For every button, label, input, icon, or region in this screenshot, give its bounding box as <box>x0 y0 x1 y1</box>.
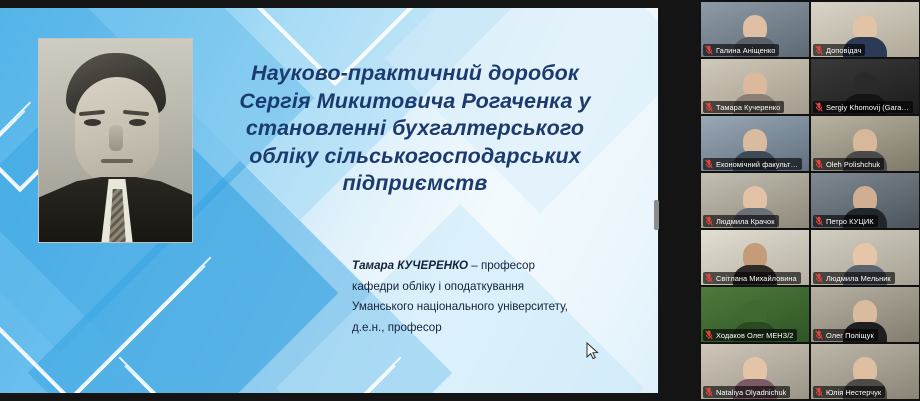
participant-tile[interactable]: Sergiy Khomovij (Gara… <box>811 59 919 114</box>
mic-muted-icon <box>815 45 823 55</box>
attribution-line: кафедри обліку і оподаткування <box>352 277 612 298</box>
shared-screen-stage: Науково-практичний доробок Сергія Микито… <box>0 0 700 401</box>
participant-name: Ходаков Олег МЕНЗ/2 <box>716 331 793 340</box>
participant-name: Олег Поліщук <box>826 331 874 340</box>
mic-muted-icon <box>705 159 713 169</box>
participant-tile[interactable]: Людмила Мельник <box>811 230 919 285</box>
participant-tile[interactable]: Oleh Polishchuk <box>811 116 919 171</box>
attribution-line: д.е.н., професор <box>352 318 612 339</box>
participant-name: Галина Аніщенко <box>716 46 775 55</box>
mic-muted-icon <box>815 159 823 169</box>
participant-name-badge: Oleh Polishchuk <box>813 158 884 170</box>
mic-muted-icon <box>705 273 713 283</box>
participant-name-badge: Юлія Нестерчук <box>813 386 885 398</box>
participant-name: Економічний факульт… <box>716 160 798 169</box>
slide-title-line: підприємств <box>200 170 630 198</box>
participant-tile[interactable]: Доповідач <box>811 2 919 57</box>
participant-name: Юлія Нестерчук <box>826 388 881 397</box>
participant-tile[interactable]: Економічний факульт… <box>701 116 809 171</box>
slide-title: Науково-практичний доробок Сергія Микито… <box>200 60 630 198</box>
participant-name-badge: Олег Поліщук <box>813 329 878 341</box>
participant-tile[interactable]: Тамара Кучеренко <box>701 59 809 114</box>
scrollbar-thumb[interactable] <box>654 200 659 230</box>
presentation-slide: Науково-практичний доробок Сергія Микито… <box>0 8 658 393</box>
participant-name-badge: Петро КУЦИК <box>813 215 878 227</box>
slide-title-line: обліку сільськогосподарських <box>200 143 630 171</box>
mic-muted-icon <box>815 216 823 226</box>
participant-tile[interactable]: Світлана Михайловина <box>701 230 809 285</box>
participant-name: Sergiy Khomovij (Gara… <box>826 103 909 112</box>
participant-name-badge: Sergiy Khomovij (Gara… <box>813 101 913 113</box>
participant-name-badge: Ходаков Олег МЕНЗ/2 <box>703 329 797 341</box>
slide-title-line: Науково-практичний доробок <box>200 60 630 88</box>
participant-tile[interactable]: Юлія Нестерчук <box>811 344 919 399</box>
participant-name-badge: Людмила Крачок <box>703 215 779 227</box>
mic-muted-icon <box>705 216 713 226</box>
participant-tile[interactable]: Людмила Крачок <box>701 173 809 228</box>
attribution-line-name: Тамара КУЧЕРЕНКО – професор <box>352 256 612 277</box>
slide-attribution: Тамара КУЧЕРЕНКО – професор кафедри облі… <box>352 256 612 339</box>
portrait-photo <box>38 38 193 243</box>
participant-name: Oleh Polishchuk <box>826 160 880 169</box>
participant-tile[interactable]: Петро КУЦИК <box>811 173 919 228</box>
mic-muted-icon <box>705 45 713 55</box>
mic-muted-icon <box>815 387 823 397</box>
mic-muted-icon <box>815 102 823 112</box>
participant-name: Доповідач <box>826 46 861 55</box>
participant-tile[interactable]: Ходаков Олег МЕНЗ/2 <box>701 287 809 342</box>
participant-tile[interactable]: Олег Поліщук <box>811 287 919 342</box>
participant-name: Людмила Мельник <box>826 274 891 283</box>
mic-muted-icon <box>705 387 713 397</box>
participant-name: Світлана Михайловина <box>716 274 797 283</box>
participant-name-badge: Доповідач <box>813 44 865 56</box>
participant-name-badge: Людмила Мельник <box>813 272 895 284</box>
presenter-role: – професор <box>468 259 535 272</box>
participant-tile[interactable]: Nataliya Olyadnichuk <box>701 344 809 399</box>
mic-muted-icon <box>705 102 713 112</box>
participant-grid: Галина АніщенкоДоповідачТамара Кучеренко… <box>700 0 920 401</box>
participant-name-badge: Економічний факульт… <box>703 158 802 170</box>
shared-screen-scrollbar[interactable] <box>654 8 659 393</box>
zoom-meeting-window: Науково-практичний доробок Сергія Микито… <box>0 0 920 401</box>
participant-name-badge: Світлана Михайловина <box>703 272 801 284</box>
slide-title-line: становленні бухгалтерського <box>200 115 630 143</box>
presenter-name: Тамара КУЧЕРЕНКО <box>352 259 468 272</box>
participant-name: Людмила Крачок <box>716 217 775 226</box>
mic-muted-icon <box>705 330 713 340</box>
participant-name-badge: Галина Аніщенко <box>703 44 779 56</box>
participant-name: Тамара Кучеренко <box>716 103 780 112</box>
mic-muted-icon <box>815 330 823 340</box>
participant-name: Nataliya Olyadnichuk <box>716 388 786 397</box>
mouse-cursor-icon <box>586 342 600 360</box>
participant-name-badge: Тамара Кучеренко <box>703 101 784 113</box>
slide-title-line: Сергія Микитовича Рогаченка у <box>200 88 630 116</box>
attribution-line: Уманського національного університету, <box>352 297 612 318</box>
participant-name-badge: Nataliya Olyadnichuk <box>703 386 790 398</box>
participant-name: Петро КУЦИК <box>826 217 874 226</box>
participant-tile[interactable]: Галина Аніщенко <box>701 2 809 57</box>
mic-muted-icon <box>815 273 823 283</box>
